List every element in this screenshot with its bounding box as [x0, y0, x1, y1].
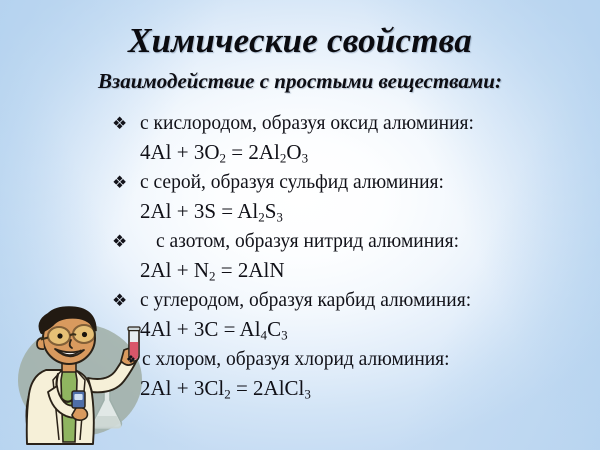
- equation-right-1: Al: [237, 199, 258, 223]
- equation-right-subscript-2: 3: [302, 151, 309, 166]
- reaction-description: ❖ с углеродом, образуя карбид алюминия:: [0, 287, 600, 315]
- equation-right-2: O: [286, 140, 301, 164]
- page-subtitle: Взаимодействие с простыми веществами:: [0, 69, 600, 94]
- reaction-equation: 2Al + 3Cl2 = 2AlCl3: [0, 374, 600, 403]
- equation-operator: =: [218, 317, 239, 341]
- equation-left: 2Al + 3Cl: [140, 376, 224, 400]
- equation-right-2: S: [265, 199, 277, 223]
- reaction-item-carbon: ❖ с углеродом, образуя карбид алюминия: …: [0, 287, 600, 344]
- reaction-item-oxygen: ❖ с кислородом, образуя оксид алюминия: …: [0, 110, 600, 167]
- reaction-equation: 2Al + N2 = 2AlN: [0, 256, 600, 285]
- page-title: Химические свойства: [0, 21, 600, 61]
- diamond-bullet-icon: ❖: [126, 346, 136, 374]
- equation-right-1: Al: [240, 317, 261, 341]
- equation-right-subscript-2: 3: [281, 328, 288, 343]
- diamond-bullet-icon: ❖: [112, 228, 127, 256]
- equation-operator: =: [216, 199, 237, 223]
- reaction-item-chlorine: ❖ с хлором, образуя хлорид алюминия: 2Al…: [0, 346, 600, 403]
- reaction-equation: 4Al + 3O2 = 2Al2O3: [0, 138, 600, 167]
- reaction-equation: 4Al + 3C = Al4C3: [0, 315, 600, 344]
- equation-right-1: 2AlCl: [253, 376, 304, 400]
- equation-operator: =: [231, 376, 253, 400]
- equation-left: 2Al + 3S: [140, 199, 216, 223]
- diamond-bullet-icon: ❖: [112, 169, 127, 197]
- diamond-bullet-icon: ❖: [112, 287, 127, 315]
- reaction-description-text: с азотом, образуя нитрид алюминия:: [156, 231, 459, 252]
- equation-left: 2Al + N: [140, 258, 209, 282]
- reaction-description: ❖ с серой, образуя сульфид алюминия:: [0, 169, 600, 197]
- reaction-description-text: с серой, образуя сульфид алюминия:: [140, 172, 444, 193]
- equation-operator: =: [216, 258, 238, 282]
- reaction-description-text: с кислородом, образуя оксид алюминия:: [140, 113, 474, 134]
- reaction-description: ❖ с кислородом, образуя оксид алюминия:: [0, 110, 600, 138]
- equation-right-subscript-2: 3: [276, 210, 283, 225]
- equation-right-2: C: [267, 317, 281, 341]
- reaction-description: ❖ с азотом, образуя нитрид алюминия:: [0, 228, 600, 256]
- equation-operator: =: [226, 140, 248, 164]
- reactions-list: ❖ с кислородом, образуя оксид алюминия: …: [0, 110, 600, 405]
- equation-left: 4Al + 3C: [140, 317, 218, 341]
- diamond-bullet-icon: ❖: [112, 110, 127, 138]
- equation-right-1: 2AlN: [238, 258, 285, 282]
- equation-right-1: 2Al: [248, 140, 280, 164]
- reaction-item-sulfur: ❖ с серой, образуя сульфид алюминия: 2Al…: [0, 169, 600, 226]
- slide-canvas: Химические свойства Взаимодействие с про…: [0, 0, 600, 450]
- reaction-description-text: с углеродом, образуя карбид алюминия:: [140, 290, 471, 311]
- equation-left: 4Al + 3O: [140, 140, 220, 164]
- reaction-item-nitrogen: ❖ с азотом, образуя нитрид алюминия: 2Al…: [0, 228, 600, 285]
- reaction-description-text: с хлором, образуя хлорид алюминия:: [142, 349, 450, 370]
- equation-right-subscript-1: 3: [304, 387, 311, 402]
- reaction-description: ❖ с хлором, образуя хлорид алюминия:: [0, 346, 600, 374]
- reaction-equation: 2Al + 3S = Al2S3: [0, 197, 600, 226]
